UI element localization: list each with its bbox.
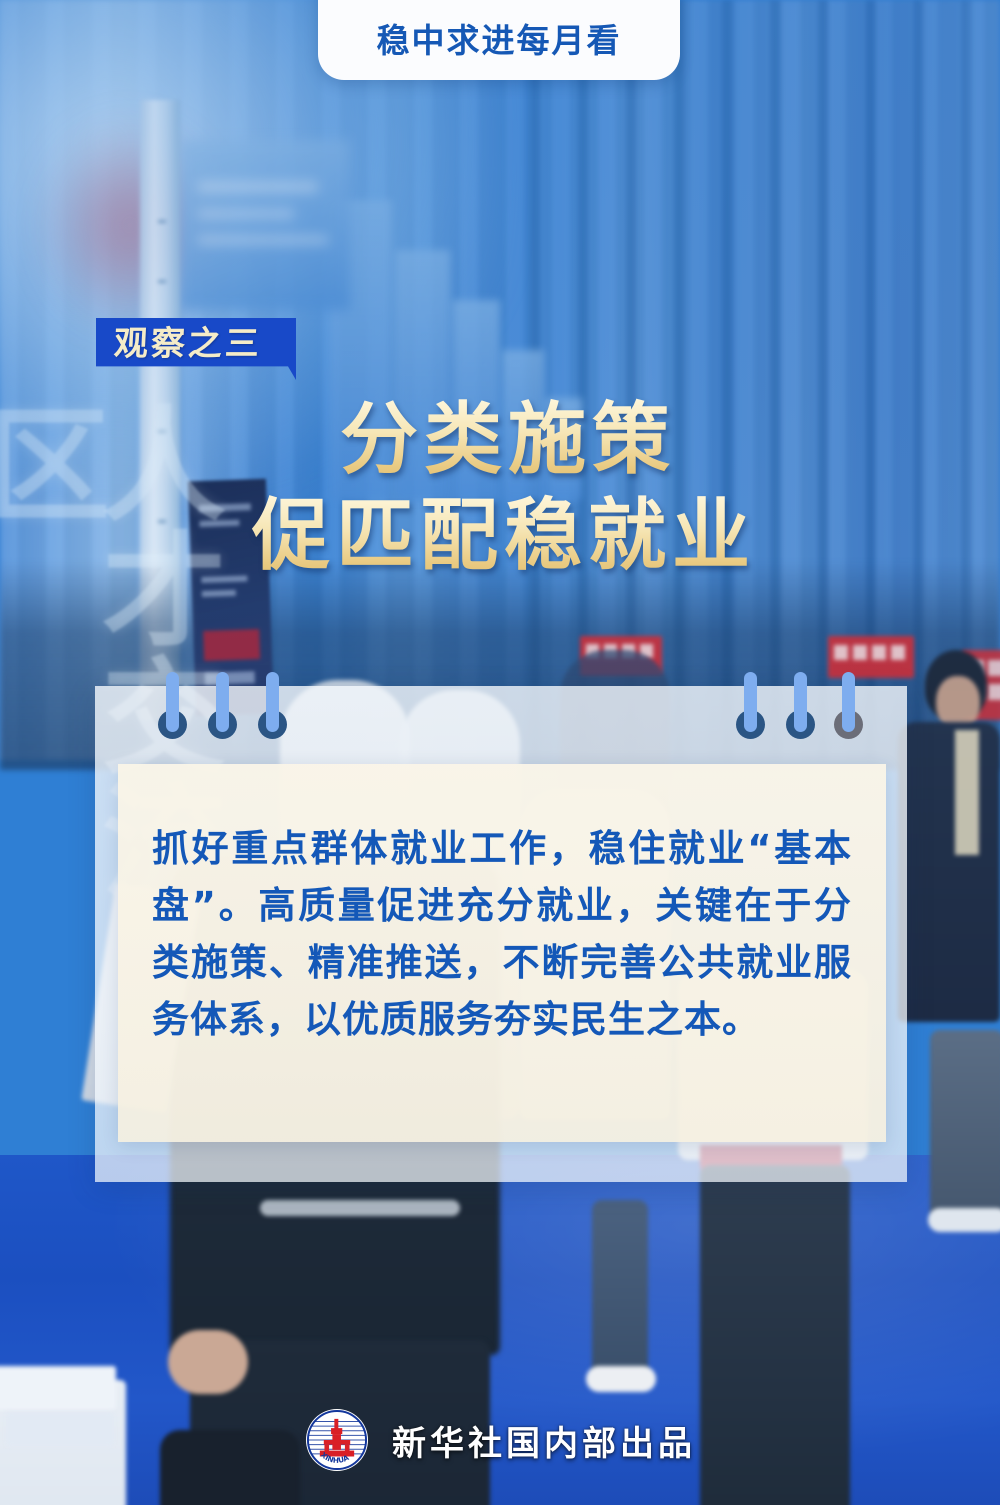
figure-far-right-shoe (928, 1208, 1000, 1232)
binding-ring-bar-front (744, 702, 757, 732)
figure-far-right-legs (930, 1030, 1000, 1220)
observation-badge: 观察之三 (96, 318, 296, 380)
footer: XINHUA 新华社国内部出品 (0, 1400, 1000, 1480)
page-title-line-2: 促匹配稳就业 (0, 488, 1000, 584)
page-title-line-1: 分类施策 (0, 392, 1000, 488)
binding-ring-bar-front (842, 702, 855, 732)
figure-left-walking-legs (592, 1200, 648, 1380)
figure-right-man-body (898, 722, 1000, 1022)
binding-ring-bar-front (166, 702, 179, 732)
figure-foreground-man-hand (168, 1330, 248, 1394)
upper-banner (180, 140, 350, 310)
binding-ring-bar-front (794, 702, 807, 732)
binding-ring-bar-front (216, 702, 229, 732)
figure-foreground-man-belt (260, 1200, 460, 1216)
figure-right-man-shirt (955, 730, 979, 855)
page-title: 分类施策 促匹配稳就业 (0, 392, 1000, 584)
series-label-text: 稳中求进每月看 (377, 14, 622, 62)
note-card-text: 抓好重点群体就业工作，稳住就业“基本盘”。高质量促进充分就业，关键在于分类施策、… (152, 820, 852, 1048)
xinhua-logo-icon: XINHUA (304, 1407, 370, 1473)
footer-credit: 新华社国内部出品 (392, 1416, 696, 1465)
observation-badge-label: 观察之三 (113, 324, 287, 364)
poster-root: 人才交流区 (0, 0, 1000, 1505)
binding-ring-bar-front (266, 702, 279, 732)
series-label-pill: 稳中求进每月看 (318, 0, 680, 80)
figure-left-walking-shoe (586, 1366, 656, 1392)
